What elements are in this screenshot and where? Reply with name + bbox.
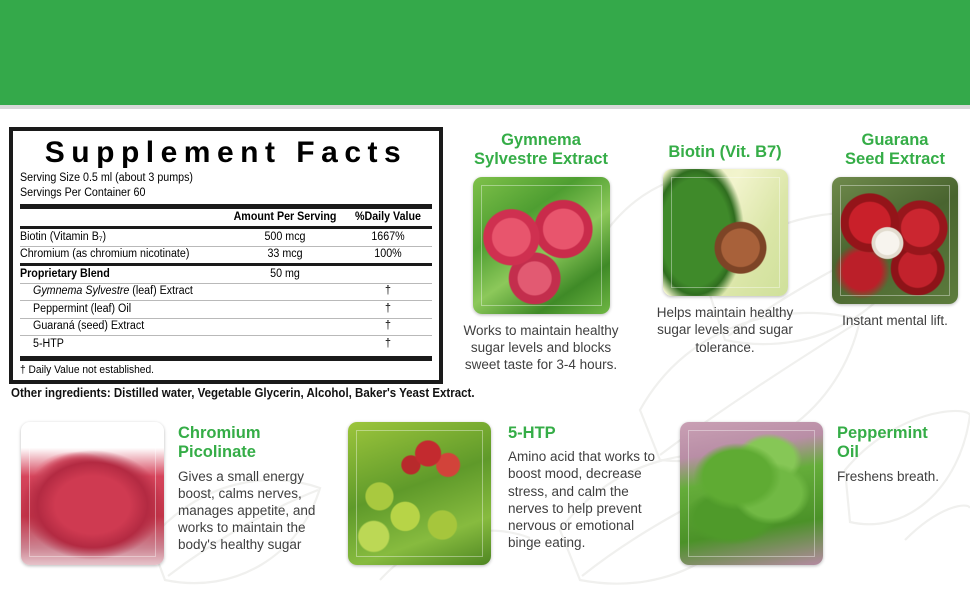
photo-inner-frame (688, 430, 815, 557)
ingredient-title: Peppermint Oil (837, 424, 970, 463)
ingredient-title-line1: Gymnema (455, 131, 627, 150)
blend-item-name-rest: Guaraná (seed) Extract (33, 320, 144, 332)
ingredient-text-block: Chromium Picolinate Gives a small energy… (164, 422, 330, 553)
ingredient-title-line2: Oil (837, 443, 970, 462)
header-banner (0, 0, 970, 105)
photo-inner-frame (29, 430, 156, 557)
ingredient-text-block: Peppermint Oil Freshens breath. (823, 422, 970, 485)
servings-per-container-text: Servings Per Container 60 (20, 186, 403, 201)
ingredient-card-5htp: 5-HTP Amino acid that works to boost moo… (345, 422, 670, 565)
ingredient-description: Freshens breath. (837, 468, 970, 485)
nutrient-daily-value: 100% (347, 249, 429, 261)
column-header-amount: Amount Per Serving (230, 212, 340, 224)
blend-item-name: Gymnema Sylvestre (leaf) Extract (20, 286, 212, 298)
ingredient-title-line1: Biotin (Vit. B7) (645, 143, 805, 162)
table-row: Peppermint (leaf) Oil † (20, 301, 432, 318)
gymnema-fruit-photo (473, 177, 610, 314)
blend-item-name: Guaraná (seed) Extract (20, 321, 212, 333)
proprietary-blend-row: Proprietary Blend 50 mg (20, 266, 432, 283)
ingredient-title-line1: Peppermint (837, 424, 970, 443)
ingredient-card-gymnema: Gymnema Sylvestre Extract Works to maint… (455, 131, 627, 373)
ingredient-title: 5-HTP (508, 424, 670, 443)
ingredient-description: Gives a small energy boost, calms nerves… (178, 468, 330, 554)
blend-item-name-italic: Gymnema Sylvestre (33, 285, 129, 297)
ingredient-description: Amino acid that works to boost mood, dec… (508, 448, 670, 551)
ingredient-description: Instant mental lift. (820, 312, 970, 329)
ingredient-description: Works to maintain healthy sugar levels a… (455, 322, 627, 373)
chromium-powder-photo (21, 422, 164, 565)
blend-item-name-rest: Peppermint (leaf) Oil (33, 303, 131, 315)
table-row: 5-HTP † (20, 336, 432, 353)
ingredient-card-biotin: Biotin (Vit. B7) Helps maintain healthy … (645, 143, 805, 356)
ingredient-title-line2: Sylvestre Extract (455, 150, 627, 169)
supplement-facts-title: Supplement Facts (20, 134, 432, 171)
photo-inner-frame (481, 185, 602, 306)
ingredient-title: Biotin (Vit. B7) (645, 143, 805, 162)
nutrient-daily-value: 1667% (347, 232, 429, 244)
nutrient-name: Biotin (Vitamin B₇) (20, 232, 212, 244)
ingredient-title: Guarana Seed Extract (820, 131, 970, 170)
photo-inner-frame (356, 430, 483, 557)
table-row: Biotin (Vitamin B₇) 500 mcg 1667% (20, 229, 432, 246)
guarana-seed-photo (832, 177, 958, 304)
blend-name: Proprietary Blend (20, 269, 212, 281)
table-row: Chromium (as chromium nicotinate) 33 mcg… (20, 247, 432, 264)
ingredient-text-block: 5-HTP Amino acid that works to boost moo… (494, 422, 670, 551)
ingredient-card-chromium: Chromium Picolinate Gives a small energy… (20, 422, 330, 565)
supplement-facts-panel: Supplement Facts Serving Size 0.5 ml (ab… (9, 127, 443, 384)
griffonia-berries-photo (348, 422, 491, 565)
blend-item-name-rest: 5-HTP (33, 338, 64, 350)
ingredient-title: Chromium Picolinate (178, 424, 330, 463)
blend-item-dagger: † (347, 304, 429, 316)
nutrient-amount: 33 mcg (230, 249, 340, 261)
header-divider (0, 105, 970, 109)
blend-item-dagger: † (347, 286, 429, 298)
serving-size-text: Serving Size 0.5 ml (about 3 pumps) (20, 171, 403, 186)
ingredient-title-line1: Guarana (820, 131, 970, 150)
nutrient-name: Chromium (as chromium nicotinate) (20, 249, 212, 261)
ingredient-title: Gymnema Sylvestre Extract (455, 131, 627, 170)
blend-item-dagger: † (347, 321, 429, 333)
table-row: Gymnema Sylvestre (leaf) Extract † (20, 284, 432, 301)
ingredient-title-line2: Seed Extract (820, 150, 970, 169)
ingredient-card-guarana: Guarana Seed Extract Instant mental lift… (820, 131, 970, 329)
ingredient-title-line2: Picolinate (178, 443, 330, 462)
daily-value-footnote: † Daily Value not established. (20, 361, 403, 378)
nutrient-amount: 500 mcg (230, 232, 340, 244)
blend-item-name-rest: (leaf) Extract (129, 285, 193, 297)
peppermint-leaves-photo (680, 422, 823, 565)
photo-inner-frame (671, 177, 780, 288)
column-header-daily-value: %Daily Value (347, 212, 429, 224)
ingredient-card-peppermint: Peppermint Oil Freshens breath. (680, 422, 970, 565)
ingredient-description: Helps maintain healthy sugar levels and … (645, 304, 805, 355)
photo-inner-frame (840, 185, 950, 296)
blend-item-name: 5-HTP (20, 339, 212, 351)
table-header-row: Amount Per Serving %Daily Value (20, 209, 432, 227)
blend-item-dagger: † (347, 339, 429, 351)
ingredient-title-line1: Chromium (178, 424, 330, 443)
blend-amount: 50 mg (230, 269, 340, 281)
table-row: Guaraná (seed) Extract † (20, 319, 432, 336)
avocado-photo (663, 169, 788, 296)
other-ingredients-text: Other ingredients: Distilled water, Vege… (11, 386, 475, 400)
ingredient-title-line1: 5-HTP (508, 424, 670, 443)
blend-item-name: Peppermint (leaf) Oil (20, 304, 212, 316)
